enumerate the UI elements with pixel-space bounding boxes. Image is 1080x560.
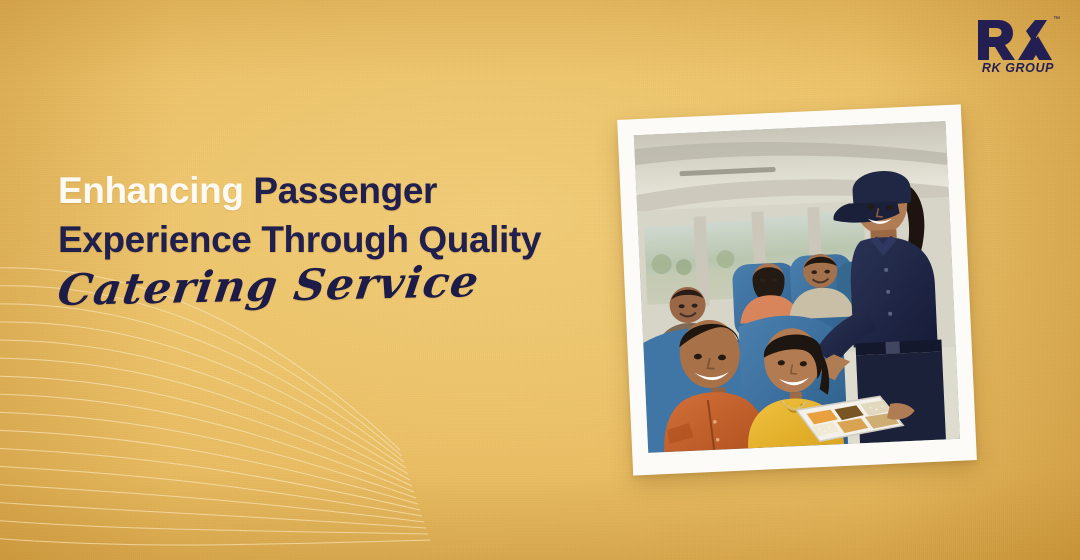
logo-trademark: ™: [1053, 16, 1060, 23]
photo-frame: [634, 121, 960, 453]
train-catering-photo: [634, 121, 960, 453]
rk-group-logo[interactable]: ™ RK GROUP: [972, 12, 1064, 74]
headline-word-enhancing: Enhancing: [58, 170, 244, 211]
logo-wordmark: RK GROUP: [982, 61, 1054, 74]
logo-svg: ™ RK GROUP: [972, 12, 1064, 74]
headline-word-passenger: Passenger: [253, 170, 437, 211]
banner-canvas: Enhancing Passenger Experience Through Q…: [0, 0, 1080, 560]
headline-line-1: Enhancing Passenger: [58, 166, 678, 215]
headline-script-line: Catering Service: [55, 255, 683, 315]
headline-block: Enhancing Passenger Experience Through Q…: [58, 166, 678, 316]
photo-card: [617, 104, 977, 475]
